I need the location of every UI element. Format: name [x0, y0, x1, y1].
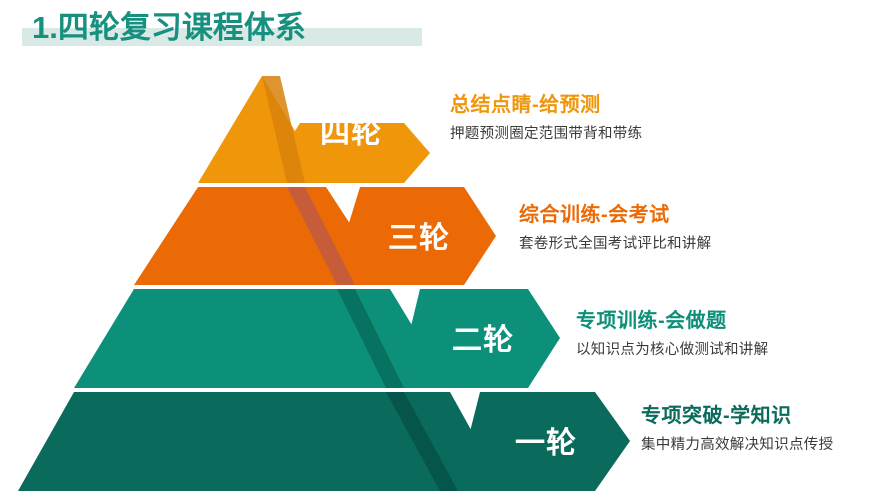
level-3-subtitle: 套卷形式全国考试评比和讲解 — [519, 232, 711, 256]
level-3-description: 综合训练-会考试 套卷形式全国考试评比和讲解 — [519, 202, 711, 256]
level-4-subtitle: 押题预测圈定范围带背和带练 — [450, 122, 642, 146]
level-4-badge: 四轮 — [320, 117, 382, 150]
page-title-block: 1.四轮复习课程体系 — [22, 6, 306, 50]
pyramid-level-3[interactable]: 三轮 — [134, 187, 496, 285]
pyramid-level-2[interactable]: 二轮 — [74, 289, 560, 388]
page-title: 1.四轮复习课程体系 — [22, 6, 306, 50]
level-3-badge: 三轮 — [388, 222, 450, 255]
level-1-description: 专项突破-学知识 集中精力高效解决知识点传授 — [641, 403, 833, 457]
pyramid-level-1[interactable]: 一轮 — [18, 392, 630, 491]
level-2-description: 专项训练-会做题 以知识点为核心做测试和讲解 — [576, 308, 768, 362]
pyramid-level-4[interactable]: 四轮 — [198, 76, 430, 183]
level-4-heading: 总结点睛-给预测 — [450, 92, 642, 118]
level-2-heading: 专项训练-会做题 — [576, 308, 768, 334]
level-1-heading: 专项突破-学知识 — [641, 403, 833, 429]
level-1-badge: 一轮 — [515, 427, 577, 460]
level-2-subtitle: 以知识点为核心做测试和讲解 — [576, 338, 768, 362]
level-1-subtitle: 集中精力高效解决知识点传授 — [641, 433, 833, 457]
level-4-description: 总结点睛-给预测 押题预测圈定范围带背和带练 — [450, 92, 642, 146]
level-2-badge: 二轮 — [452, 324, 514, 357]
slide-canvas: 1.四轮复习课程体系 四轮 三轮 二轮 — [0, 0, 889, 491]
level-3-heading: 综合训练-会考试 — [519, 202, 711, 228]
